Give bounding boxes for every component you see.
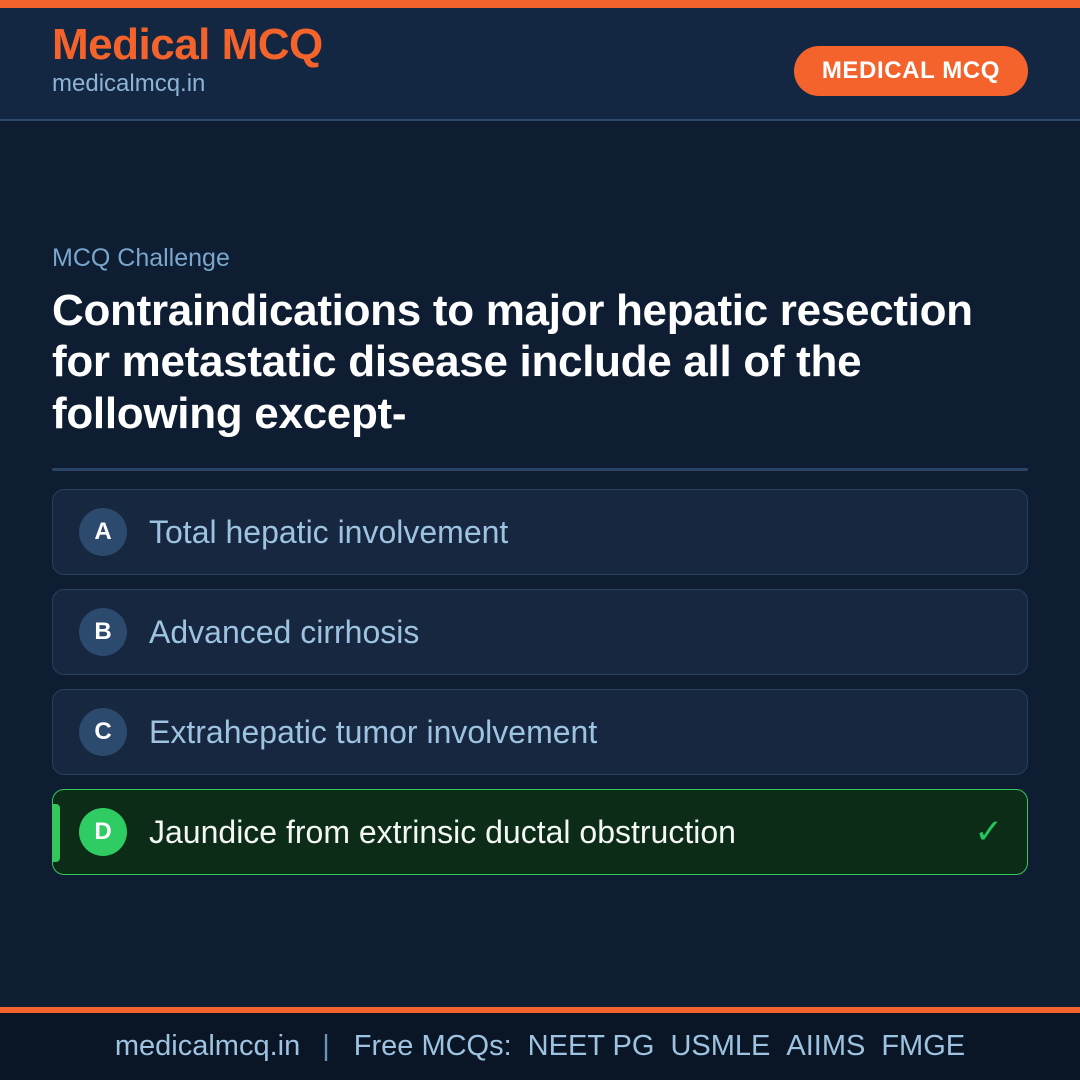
header-badge: MEDICAL MCQ	[794, 46, 1028, 96]
option-c[interactable]: C Extrahepatic tumor involvement	[52, 689, 1028, 775]
top-accent-bar	[0, 0, 1080, 8]
brand-title: Medical MCQ	[52, 22, 323, 68]
option-text: Jaundice from extrinsic ductal obstructi…	[149, 815, 736, 850]
footer-site: medicalmcq.in	[115, 1030, 300, 1063]
option-letter-badge: A	[79, 508, 127, 556]
main-content: MCQ Challenge Contraindications to major…	[0, 123, 1080, 1007]
question-text: Contraindications to major hepatic resec…	[52, 285, 992, 441]
page-header: Medical MCQ medicalmcq.in MEDICAL MCQ	[0, 8, 1080, 121]
page-footer: medicalmcq.in | Free MCQs: NEET PG USMLE…	[0, 1007, 1080, 1080]
brand-subtitle: medicalmcq.in	[52, 70, 323, 99]
brand: Medical MCQ medicalmcq.in	[52, 22, 323, 99]
footer-content: medicalmcq.in | Free MCQs: NEET PG USMLE…	[115, 1030, 965, 1063]
footer-separator: |	[322, 1030, 330, 1063]
option-text: Total hepatic involvement	[149, 515, 508, 550]
footer-tag-fmge: FMGE	[881, 1030, 965, 1063]
option-letter-badge: C	[79, 708, 127, 756]
option-a[interactable]: A Total hepatic involvement	[52, 489, 1028, 575]
option-d-correct[interactable]: D Jaundice from extrinsic ductal obstruc…	[52, 789, 1028, 875]
footer-tag-aiims: AIIMS	[786, 1030, 865, 1063]
option-b[interactable]: B Advanced cirrhosis	[52, 589, 1028, 675]
footer-tag-neet-pg: NEET PG	[528, 1030, 655, 1063]
checkmark-icon: ✓	[975, 815, 1004, 849]
footer-tag-usmle: USMLE	[670, 1030, 770, 1063]
section-divider	[52, 468, 1028, 471]
option-text: Advanced cirrhosis	[149, 615, 419, 650]
kicker-label: MCQ Challenge	[52, 245, 1028, 273]
option-text: Extrahepatic tumor involvement	[149, 715, 597, 750]
option-letter-badge: B	[79, 608, 127, 656]
correct-accent-bar	[53, 804, 60, 862]
option-letter-badge: D	[79, 808, 127, 856]
options-list: A Total hepatic involvement B Advanced c…	[52, 489, 1028, 875]
footer-label: Free MCQs:	[354, 1030, 512, 1063]
